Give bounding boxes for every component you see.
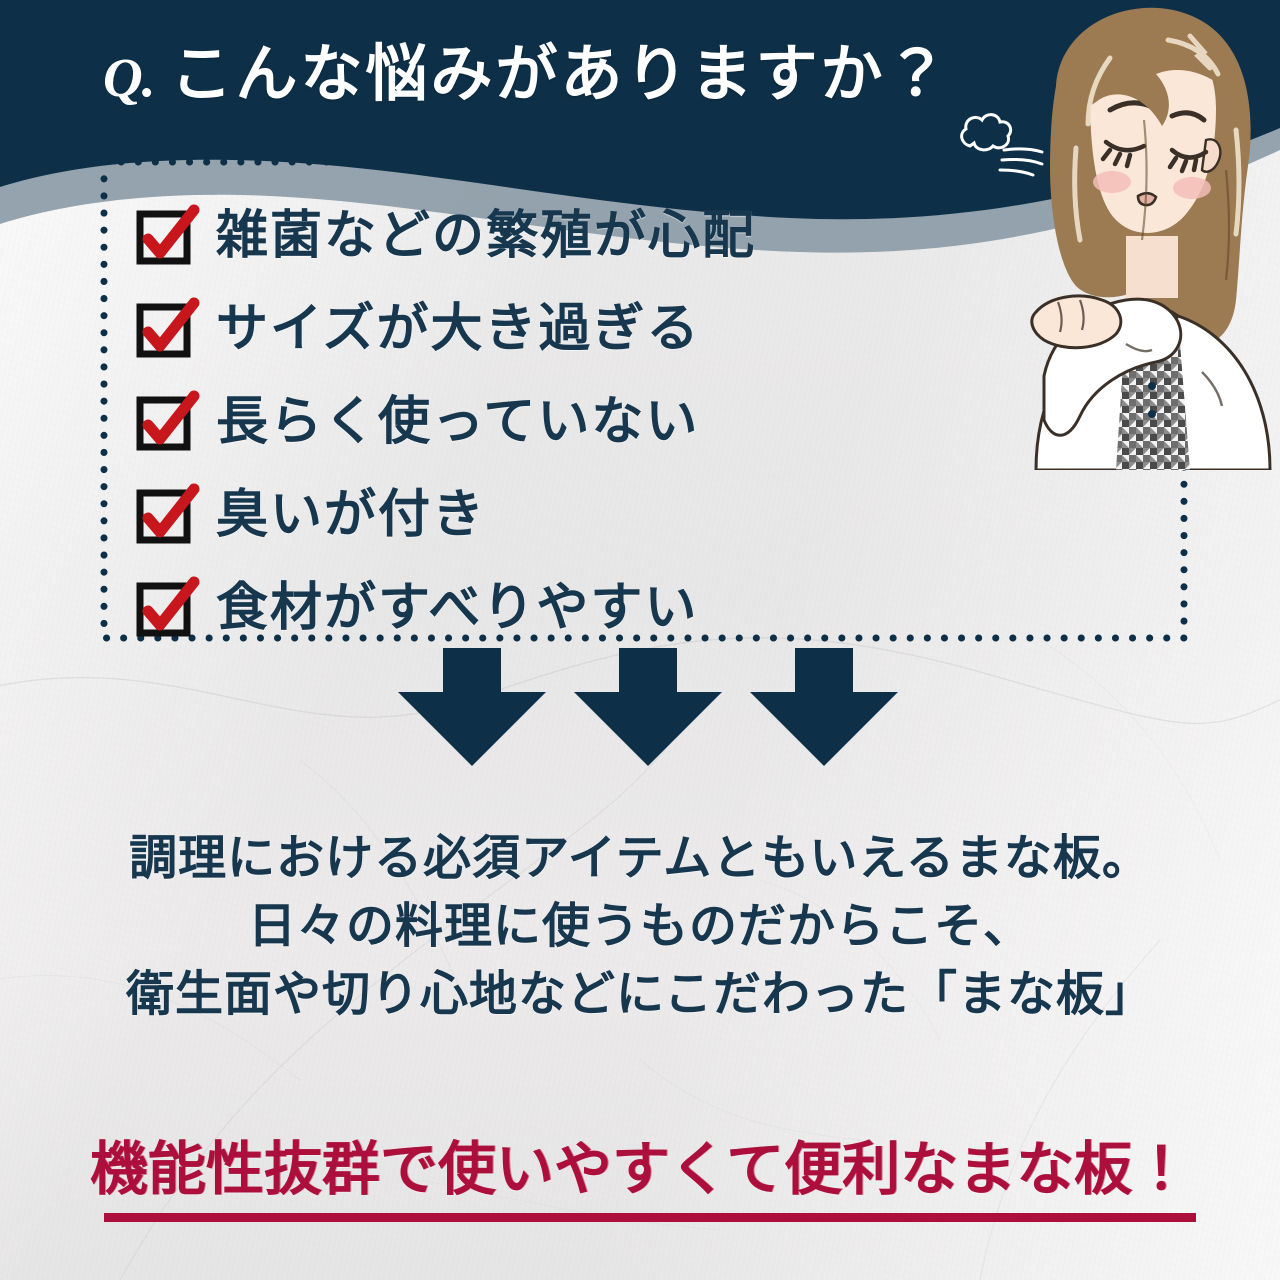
checklist-item[interactable]: 食材がすべりやすい <box>136 562 1016 655</box>
checklist-item-label: 臭いが付き <box>216 490 486 542</box>
down-arrow-icon <box>574 648 722 766</box>
checked-checkbox-icon[interactable] <box>136 301 194 359</box>
footer-headline-wrap: 機能性抜群で使いやすくて便利なまな板！ <box>0 1140 1280 1201</box>
checklist-item-label: 雑菌などの繁殖が心配 <box>216 211 756 263</box>
body-paragraph: 調理における必須アイテムともいえるまな板。 日々の料理に使うものだからこそ、 衛… <box>0 825 1280 1029</box>
problem-checklist: 雑菌などの繁殖が心配 サイズが大き過ぎる 長らく使っていない <box>136 190 1016 655</box>
body-line: 調理における必須アイテムともいえるまな板。 <box>0 825 1280 893</box>
checklist-item[interactable]: 雑菌などの繁殖が心配 <box>136 190 1016 283</box>
down-arrow-icon <box>750 648 898 766</box>
footer-headline: 機能性抜群で使いやすくて便利なまな板！ <box>90 1140 1190 1201</box>
down-arrow-icon <box>398 648 546 766</box>
header-title-group: Q. こんな悩みがありますか？ <box>103 33 1003 117</box>
checklist-item-label: 食材がすべりやすい <box>216 583 698 635</box>
footer-underline-rule <box>104 1213 1196 1222</box>
checklist-item-label: サイズが大き過ぎる <box>216 304 700 356</box>
checklist-item[interactable]: 長らく使っていない <box>136 376 1016 469</box>
down-arrow-group <box>398 648 898 768</box>
checklist-item-label: 長らく使っていない <box>216 397 699 449</box>
body-line: 衛生面や切り心地などにこだわった「まな板」 <box>0 961 1280 1029</box>
banner-canvas: Q. こんな悩みがありますか？ 雑菌などの繁殖が心配 <box>0 0 1280 1280</box>
checked-checkbox-icon[interactable] <box>136 487 194 545</box>
question-mark-label: Q. <box>103 50 154 105</box>
checklist-item[interactable]: サイズが大き過ぎる <box>136 283 1016 376</box>
body-line: 日々の料理に使うものだからこそ、 <box>0 893 1280 961</box>
page-title: こんな悩みがありますか？ <box>170 44 950 106</box>
checked-checkbox-icon[interactable] <box>136 394 194 452</box>
checked-checkbox-icon[interactable] <box>136 208 194 266</box>
checklist-item[interactable]: 臭いが付き <box>136 469 1016 562</box>
checked-checkbox-icon[interactable] <box>136 580 194 638</box>
